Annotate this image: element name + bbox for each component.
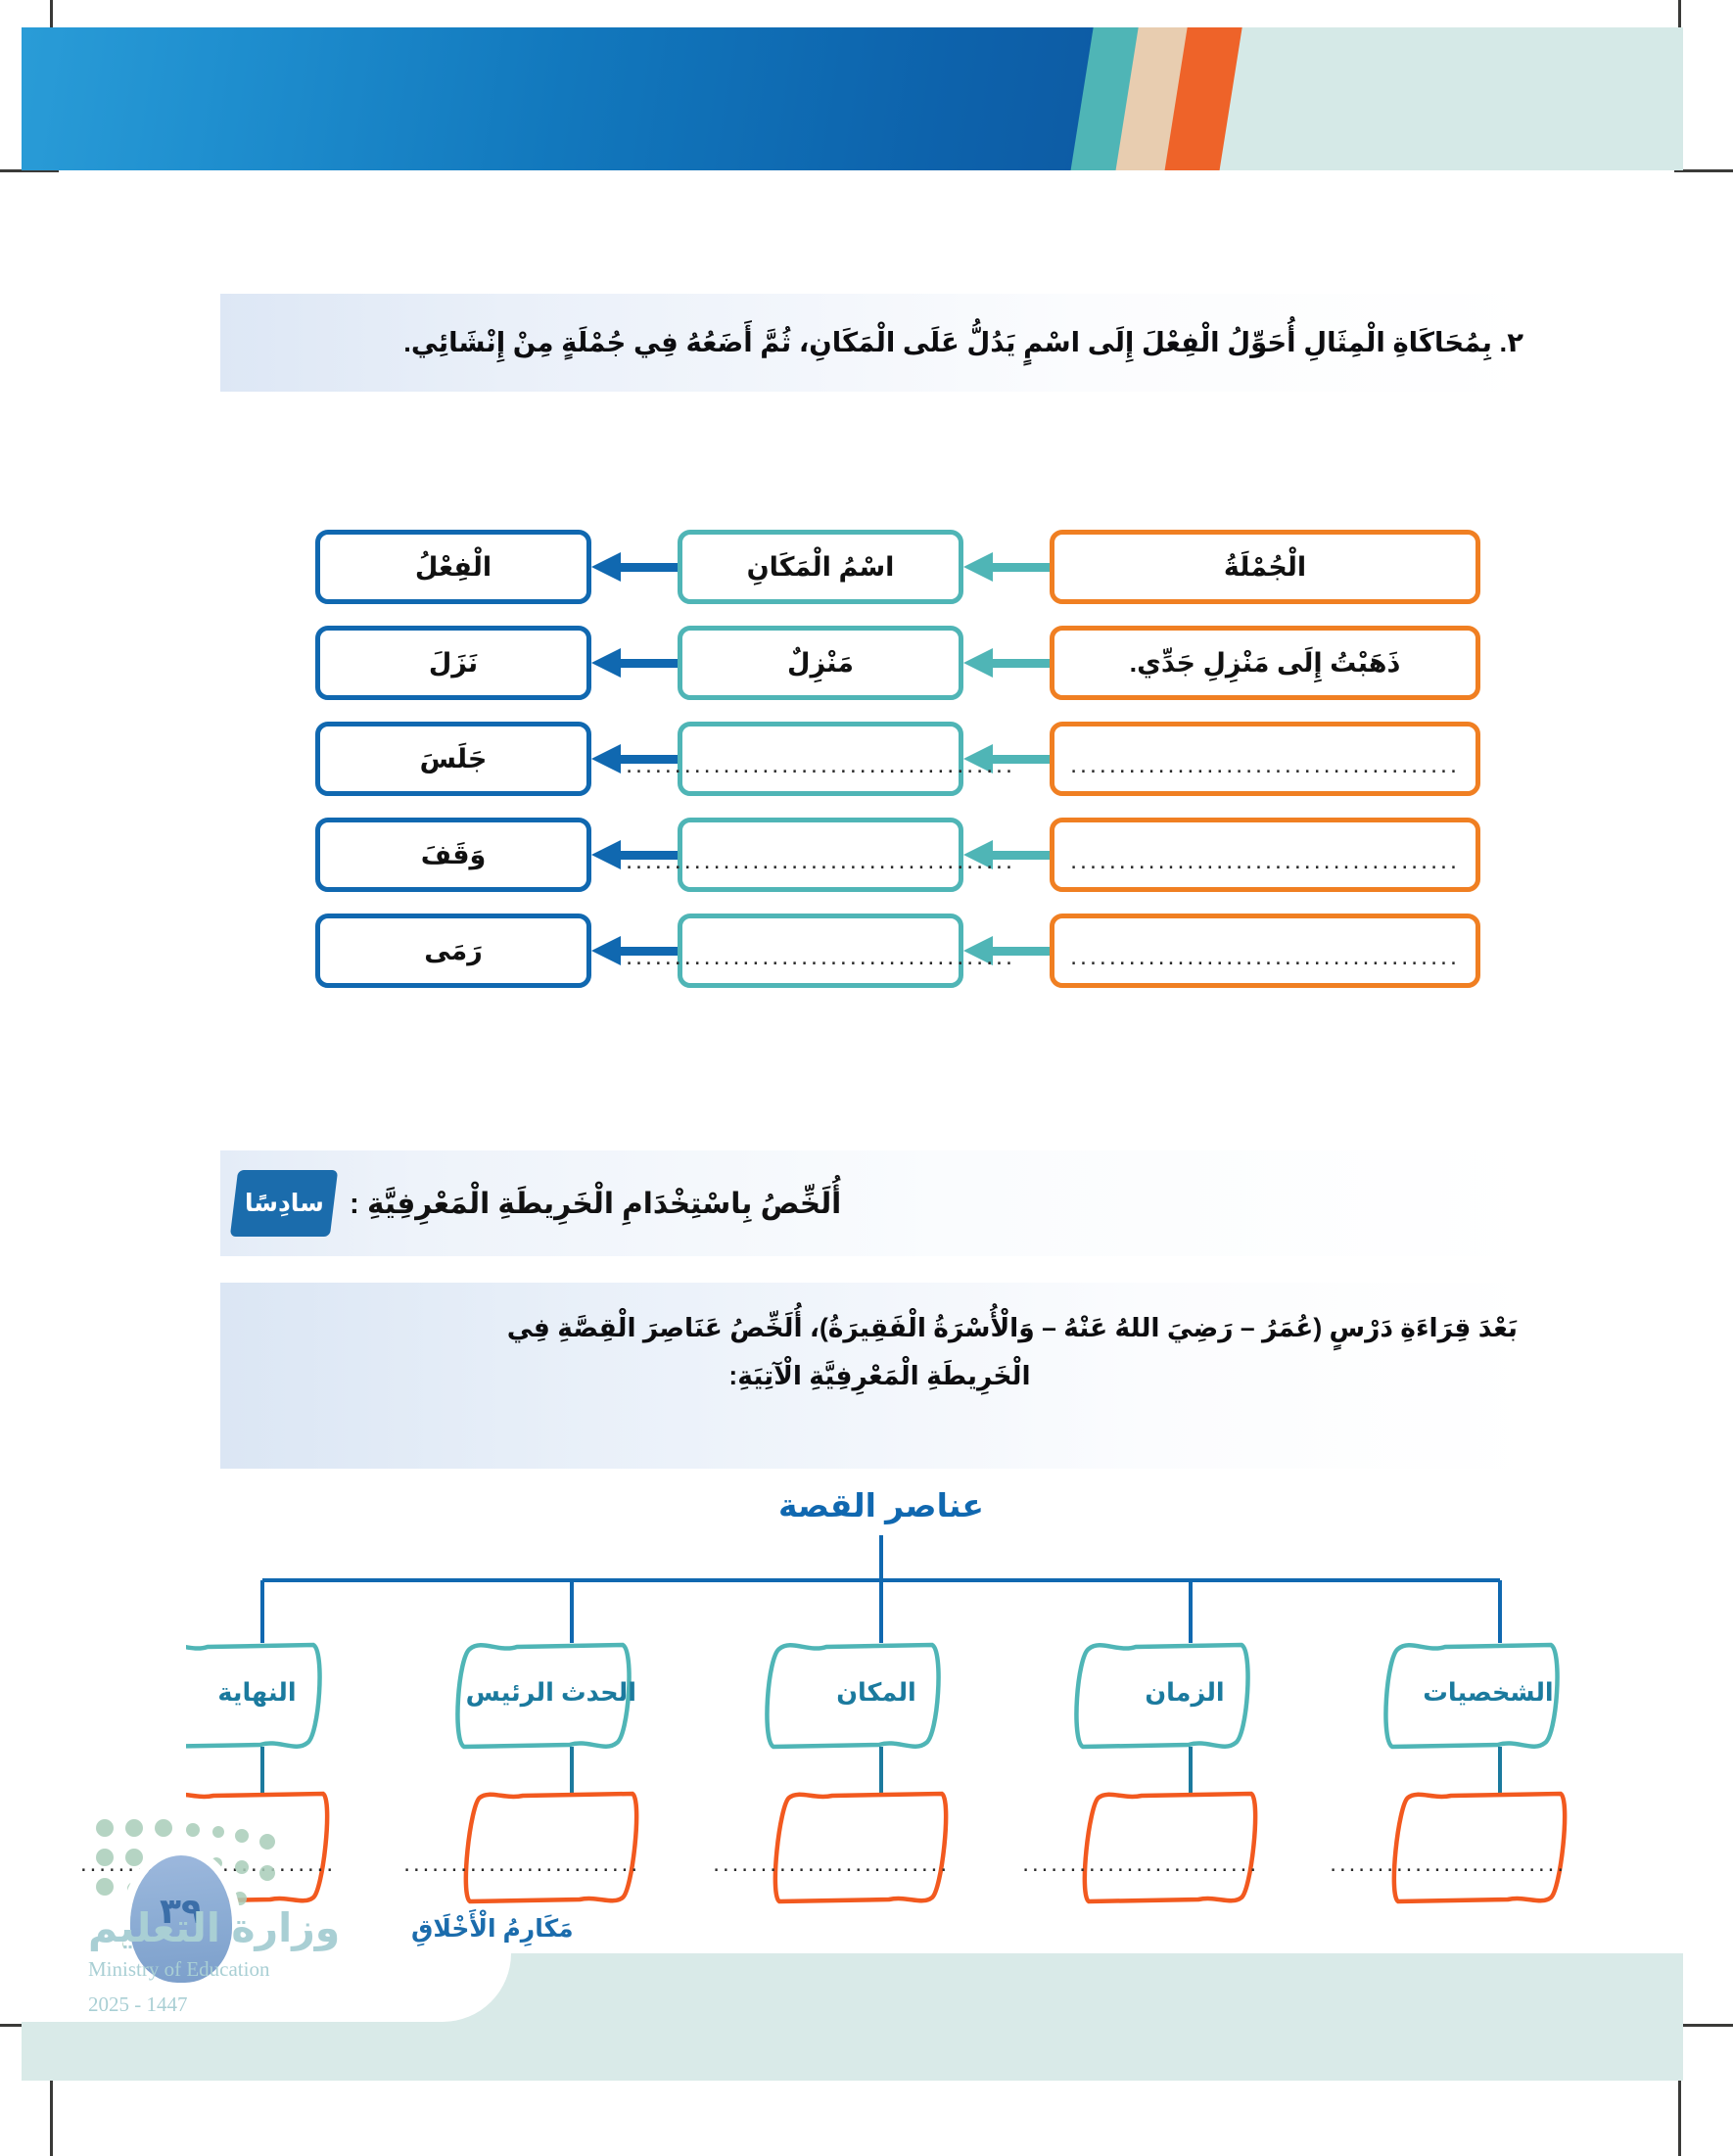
map-answer-blank-time[interactable]: ......................... xyxy=(1102,1851,1259,1878)
exercise-2-instruction-strip: ٢. بِمُحَاكَاةِ الْمِثَالِ أُحَوِّلُ الْ… xyxy=(220,294,1539,392)
arrow-blue-row-1 xyxy=(591,744,678,773)
cell-place-noun-2[interactable]: ........................................ xyxy=(678,818,963,892)
arrow-blue-row-3 xyxy=(591,936,678,965)
cell-sentence-1[interactable]: ........................................ xyxy=(1050,722,1480,796)
arrow-blue-row-0 xyxy=(591,648,678,678)
map-node-label-time: الزمان xyxy=(1111,1678,1258,1708)
map-connectors-bottom xyxy=(262,1747,1500,1798)
unit-title-footer: مَكَارِمُ الْأَخْلَاقِ xyxy=(411,1914,574,1944)
paragraph-line-2: الْخَرِيطَةِ الْمَعْرِفِيَّةِ الْآتِيَةِ… xyxy=(242,1352,1518,1400)
cell-place-noun-1[interactable]: ........................................ xyxy=(678,722,963,796)
table-row: ........................................… xyxy=(266,713,1480,805)
map-node-label-ending: النهاية xyxy=(181,1678,333,1708)
cell-verb-0: نَزَلَ xyxy=(315,626,591,700)
cell-place-noun-0[interactable]: مَنْزِلٌ xyxy=(678,626,963,700)
map-answer-blank-main-event[interactable]: ......................... xyxy=(484,1851,640,1878)
arrow-blue-header xyxy=(591,552,678,582)
map-node-label-place: المكان xyxy=(803,1678,950,1708)
arrow-teal-row-0 xyxy=(963,648,1050,678)
crop-mark-top-right-horizontal xyxy=(1674,169,1733,172)
header-cell-place-noun: اسْمُ الْمَكَانِ xyxy=(678,530,963,604)
ministry-name-english: Ministry of Education xyxy=(88,1957,269,1982)
map-connectors-top xyxy=(262,1535,1500,1643)
cell-sentence-0[interactable]: ذَهَبْتُ إِلَى مَنْزِلِ جَدِّي. xyxy=(1050,626,1480,700)
cell-verb-3: رَمَى xyxy=(315,914,591,988)
section-six-paragraph: بَعْدَ قِرَاءَةِ دَرْسٍ (عُمَرُ – رَضِيَ… xyxy=(242,1304,1518,1400)
header-cell-sentence: الْجُمْلَةُ xyxy=(1050,530,1480,604)
cell-sentence-3[interactable]: ........................................ xyxy=(1050,914,1480,988)
header-cell-verb: الْفِعْلُ xyxy=(315,530,591,604)
arrow-blue-row-2 xyxy=(591,840,678,869)
map-answer-blank-characters[interactable]: ......................... xyxy=(1410,1851,1567,1878)
map-node-label-main-event: الحدث الرئيس xyxy=(480,1678,636,1708)
cell-place-noun-3[interactable]: ........................................ xyxy=(678,914,963,988)
section-six-title: أُلَخِّصُ بِاسْتِخْدَامِ الْخَرِيطَةِ ال… xyxy=(350,1187,841,1221)
cell-verb-1: جَلَسَ xyxy=(315,722,591,796)
paragraph-line-1: بَعْدَ قِرَاءَةِ دَرْسٍ (عُمَرُ – رَضِيَ… xyxy=(507,1313,1518,1342)
exercise-2-instruction-text: ٢. بِمُحَاكَاةِ الْمِثَالِ أُحَوِّلُ الْ… xyxy=(388,322,1539,364)
page-header-banner xyxy=(22,27,1683,170)
table-row: ........................................… xyxy=(266,809,1480,901)
ministry-name-arabic: وزارة التعليم xyxy=(88,1904,340,1951)
table-row: ........................................… xyxy=(266,905,1480,997)
cell-sentence-2[interactable]: ........................................ xyxy=(1050,818,1480,892)
cell-verb-2: وَقَفَ xyxy=(315,818,591,892)
map-answer-blank-place[interactable]: ......................... xyxy=(793,1851,950,1878)
order-badge-sixth: سادِسًا xyxy=(230,1170,338,1237)
arrow-teal-header xyxy=(963,552,1050,582)
map-node-label-characters: الشخصيات xyxy=(1415,1678,1562,1708)
section-six-header: أُلَخِّصُ بِاسْتِخْدَامِ الْخَرِيطَةِ ال… xyxy=(220,1150,1539,1256)
verb-to-place-noun-table: الْجُمْلَةُ اسْمُ الْمَكَانِ الْفِعْلُ ذ… xyxy=(266,521,1480,1001)
section-six-paragraph-strip: بَعْدَ قِرَاءَةِ دَرْسٍ (عُمَرُ – رَضِيَ… xyxy=(220,1283,1539,1469)
ministry-year: 2025 - 1447 xyxy=(88,1992,188,2017)
banner-blue-stripe xyxy=(22,27,1132,170)
crop-mark-bottom-right-horizontal xyxy=(1674,2024,1733,2027)
table-row: ذَهَبْتُ إِلَى مَنْزِلِ جَدِّي. مَنْزِلٌ… xyxy=(266,617,1480,709)
table-header-row: الْجُمْلَةُ اسْمُ الْمَكَانِ الْفِعْلُ xyxy=(266,521,1480,613)
